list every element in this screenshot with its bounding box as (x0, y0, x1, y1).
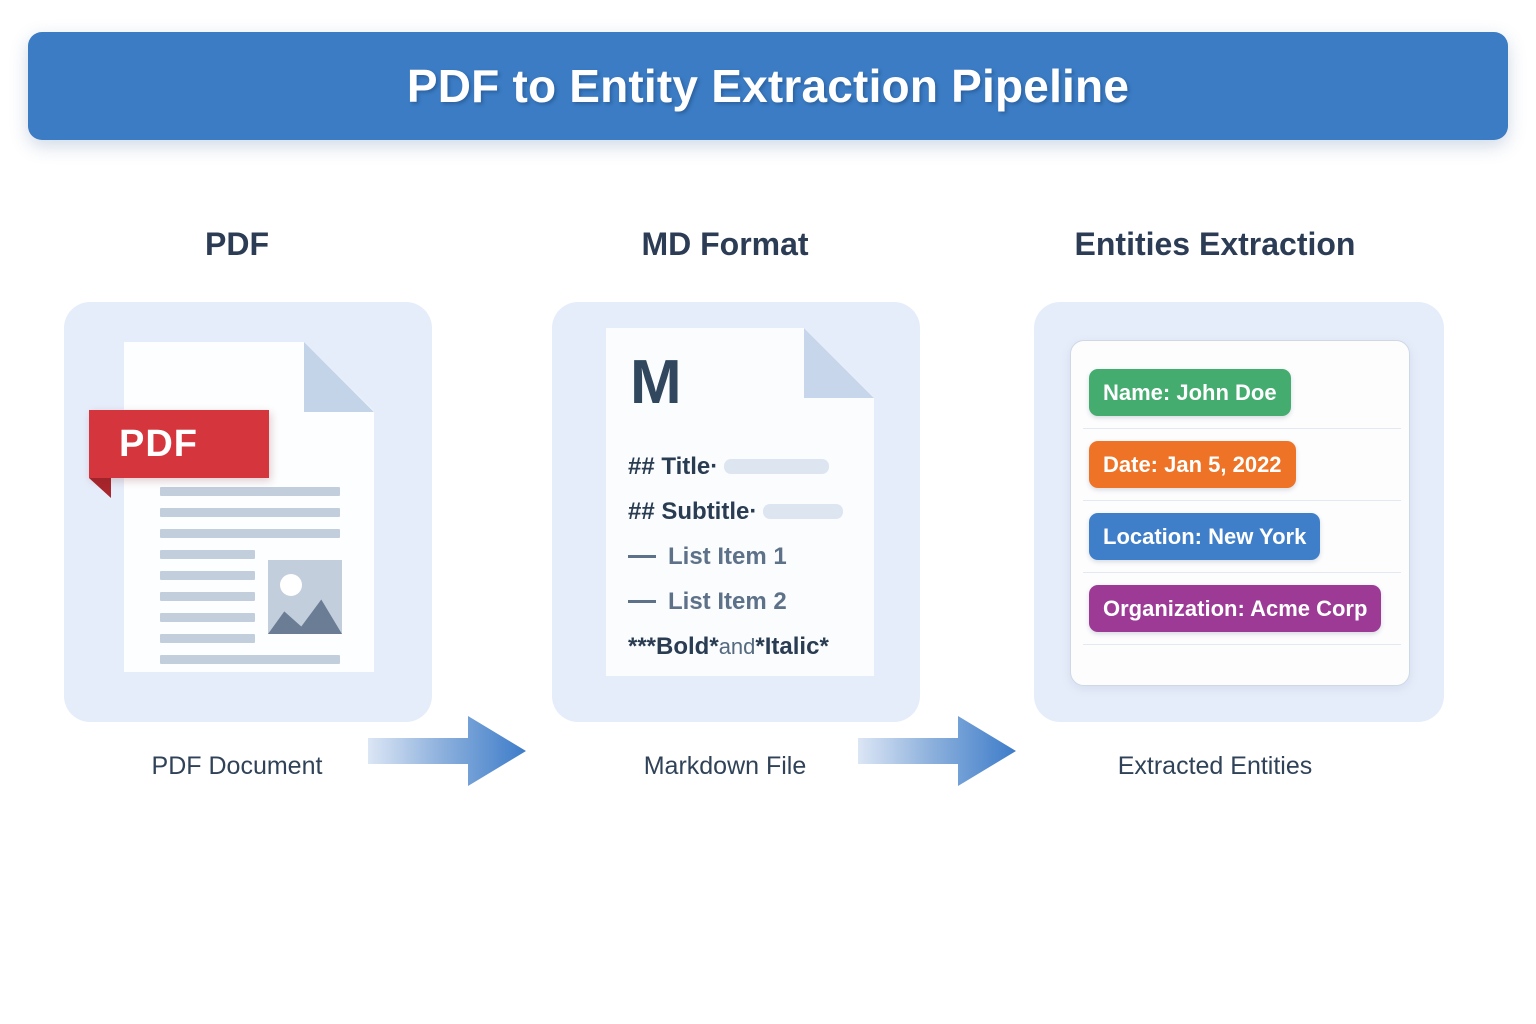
list-dash-icon (628, 600, 656, 603)
entity-row: Location: New York (1089, 513, 1391, 585)
pdf-badge-label: PDF (119, 423, 198, 466)
stages-container: PDF PDF (0, 210, 1536, 830)
markdown-subtitle-token: ## Subtitle· (628, 498, 757, 526)
entity-badge-location[interactable]: Location: New York (1089, 513, 1320, 560)
entity-badge-organization[interactable]: Organization: Acme Corp (1089, 585, 1381, 632)
header-banner: PDF to Entity Extraction Pipeline (28, 32, 1508, 140)
pdf-badge: PDF (89, 410, 269, 478)
markdown-line-title: ## Title· (628, 444, 868, 489)
entity-divider (1083, 428, 1401, 429)
stage-entities-heading: Entities Extraction (1020, 226, 1410, 263)
arrow-right-icon (858, 708, 1016, 794)
entity-divider (1083, 500, 1401, 501)
mountain-shape (268, 592, 342, 634)
stage-entities-panel: Name: John Doe Date: Jan 5, 2022 Locatio… (1034, 302, 1444, 722)
markdown-document-icon: M ## Title· ## Subtitle· List Ite (606, 328, 874, 676)
entity-row: Organization: Acme Corp (1089, 585, 1391, 657)
markdown-bold-token: ***Bold* (628, 633, 719, 661)
pdf-text-line (160, 550, 255, 559)
entity-divider (1083, 644, 1401, 645)
markdown-placeholder-bar (763, 504, 843, 519)
markdown-line-list-item-1: List Item 1 (628, 534, 868, 579)
markdown-list-item-label: List Item 2 (668, 588, 787, 616)
stage-entities: Entities Extraction Name: John Doe Date:… (1020, 210, 1410, 830)
entity-badge-date[interactable]: Date: Jan 5, 2022 (1089, 441, 1296, 488)
sun-shape (280, 574, 302, 596)
markdown-page-fold-corner (804, 328, 874, 398)
pdf-document-icon: PDF (124, 342, 374, 672)
list-dash-icon (628, 555, 656, 558)
stage-pdf-heading: PDF (42, 226, 432, 263)
pdf-text-line (160, 634, 255, 643)
stage-markdown-panel: M ## Title· ## Subtitle· List Ite (552, 302, 920, 722)
arrow-right-icon (368, 708, 526, 794)
markdown-list-item-label: List Item 1 (668, 543, 787, 571)
pdf-text-line (160, 613, 255, 622)
page-title: PDF to Entity Extraction Pipeline (407, 59, 1129, 113)
arrow-svg (368, 708, 526, 794)
pipeline-diagram: PDF to Entity Extraction Pipeline PDF PD… (0, 0, 1536, 1024)
markdown-logo: M (630, 352, 682, 414)
entity-row: Date: Jan 5, 2022 (1089, 441, 1391, 513)
markdown-title-token: ## Title· (628, 453, 718, 481)
pdf-text-line (160, 487, 340, 496)
markdown-line-subtitle: ## Subtitle· (628, 489, 868, 534)
stage-entities-caption: Extracted Entities (1020, 752, 1410, 781)
arrow-svg (858, 708, 1016, 794)
entity-divider (1083, 572, 1401, 573)
pdf-text-line (160, 529, 340, 538)
entity-badge-name[interactable]: Name: John Doe (1089, 369, 1291, 416)
markdown-line-list-item-2: List Item 2 (628, 579, 868, 624)
image-placeholder-icon (268, 560, 342, 634)
entities-card: Name: John Doe Date: Jan 5, 2022 Locatio… (1070, 340, 1410, 686)
markdown-conjunction: and (719, 634, 756, 660)
markdown-line-emphasis: ***Bold* and *Italic* (628, 624, 868, 669)
markdown-placeholder-bar (724, 459, 829, 474)
entity-row: Name: John Doe (1089, 369, 1391, 441)
markdown-content-lines: ## Title· ## Subtitle· List Item 1 (628, 444, 868, 669)
pdf-ribbon-fold (89, 478, 111, 498)
pdf-page-fold-corner (304, 342, 374, 412)
markdown-italic-token: *Italic* (755, 633, 828, 661)
pdf-text-line (160, 508, 340, 517)
pdf-text-line (160, 592, 255, 601)
stage-pdf-panel: PDF (64, 302, 432, 722)
stage-markdown-heading: MD Format (530, 226, 920, 263)
pdf-text-line (160, 655, 340, 664)
pdf-text-line (160, 571, 255, 580)
